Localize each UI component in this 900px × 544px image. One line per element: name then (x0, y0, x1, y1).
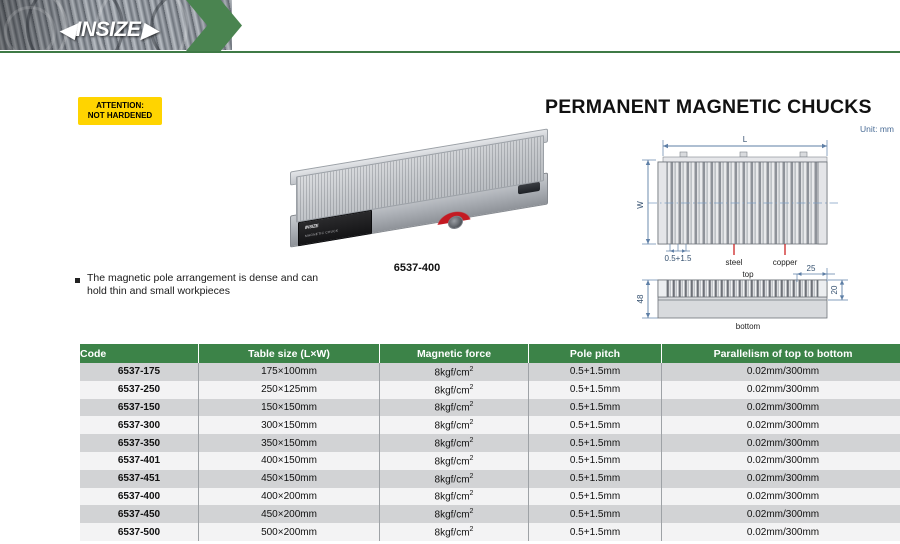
cell-code: 6537-500 (80, 523, 199, 541)
cell-code: 6537-175 (80, 363, 199, 381)
cell-magnetic-force: 8kgf/cm2 (380, 488, 529, 506)
unit-exponent: 2 (470, 526, 474, 533)
cell-pole-pitch: 0.5+1.5mm (529, 363, 662, 381)
cell-parallelism: 0.02mm/300mm (662, 452, 900, 470)
column-header-pole-pitch[interactable]: Pole pitch (529, 344, 662, 363)
cell-code: 6537-400 (80, 488, 199, 506)
table-row[interactable]: 6537-401400×150mm8kgf/cm20.5+1.5mm0.02mm… (80, 452, 900, 470)
table-header-row: Code Table size (L×W) Magnetic force Pol… (80, 344, 900, 363)
feature-item-text: The magnetic pole arrangement is dense a… (87, 272, 337, 298)
cell-pole-pitch: 0.5+1.5mm (529, 488, 662, 506)
unit-exponent: 2 (470, 473, 474, 480)
magnetic-chuck-illustration: INSIZE MAGNETIC CHUCK (290, 128, 548, 269)
table-row[interactable]: 6537-451450×150mm8kgf/cm20.5+1.5mm0.02mm… (80, 470, 900, 488)
logo-wordmark: INSIZE (76, 18, 141, 42)
product-photo: INSIZE MAGNETIC CHUCK (272, 142, 562, 254)
unit-exponent: 2 (470, 455, 474, 462)
cell-magnetic-force: 8kgf/cm2 (380, 434, 529, 452)
header-divider-rule (0, 51, 900, 53)
unit-label: Unit: mm (860, 124, 894, 134)
unit-exponent: 2 (470, 384, 474, 391)
cell-magnetic-force: 8kgf/cm2 (380, 523, 529, 541)
cell-code: 6537-300 (80, 416, 199, 434)
column-header-table-size[interactable]: Table size (L×W) (199, 344, 380, 363)
unit-exponent: 2 (470, 419, 474, 426)
unit-exponent: 2 (470, 401, 474, 408)
logo-left-arrow-icon: ◀ (59, 18, 75, 43)
view-label-bottom: bottom (736, 322, 761, 331)
unit-exponent: 2 (470, 366, 474, 373)
cell-pole-pitch: 0.5+1.5mm (529, 523, 662, 541)
cell-pole-pitch: 0.5+1.5mm (529, 434, 662, 452)
cell-parallelism: 0.02mm/300mm (662, 399, 900, 417)
cell-table-size: 175×100mm (199, 363, 380, 381)
cell-pole-pitch: 0.5+1.5mm (529, 505, 662, 523)
table-row[interactable]: 6537-175175×100mm8kgf/cm20.5+1.5mm0.02mm… (80, 363, 900, 381)
dim-label-20: 20 (830, 285, 839, 294)
cell-table-size: 300×150mm (199, 416, 380, 434)
table-row[interactable]: 6537-300300×150mm8kgf/cm20.5+1.5mm0.02mm… (80, 416, 900, 434)
cell-code: 6537-350 (80, 434, 199, 452)
cell-magnetic-force: 8kgf/cm2 (380, 381, 529, 399)
table-row[interactable]: 6537-400400×200mm8kgf/cm20.5+1.5mm0.02mm… (80, 488, 900, 506)
drawing-svg: L W 0.5+1.5 steel copper top (630, 124, 898, 336)
unit-exponent: 2 (470, 490, 474, 497)
cell-table-size: 250×125mm (199, 381, 380, 399)
unit-exponent: 2 (470, 508, 474, 515)
cell-pole-pitch: 0.5+1.5mm (529, 470, 662, 488)
cell-magnetic-force: 8kgf/cm2 (380, 470, 529, 488)
table-row[interactable]: 6537-500500×200mm8kgf/cm20.5+1.5mm0.02mm… (80, 523, 900, 541)
callout-label-copper: copper (773, 258, 798, 267)
table-row[interactable]: 6537-350350×150mm8kgf/cm20.5+1.5mm0.02mm… (80, 434, 900, 452)
unit-exponent: 2 (470, 437, 474, 444)
specifications-table: Code Table size (L×W) Magnetic force Pol… (80, 344, 900, 541)
callout-label-steel: steel (726, 258, 743, 267)
dim-label-width: W (636, 201, 645, 209)
cell-table-size: 400×150mm (199, 452, 380, 470)
cell-pole-pitch: 0.5+1.5mm (529, 381, 662, 399)
column-header-parallelism[interactable]: Parallelism of top to bottom (662, 344, 900, 363)
table-body: 6537-175175×100mm8kgf/cm20.5+1.5mm0.02mm… (80, 363, 900, 541)
cell-table-size: 350×150mm (199, 434, 380, 452)
cell-pole-pitch: 0.5+1.5mm (529, 452, 662, 470)
dim-label-height-total: 48 (636, 294, 645, 303)
column-header-code[interactable]: Code (80, 344, 199, 363)
view-label-top: top (742, 270, 754, 279)
product-caption: 6537-400 (272, 262, 562, 274)
table-row[interactable]: 6537-450450×200mm8kgf/cm20.5+1.5mm0.02mm… (80, 505, 900, 523)
cell-pole-pitch: 0.5+1.5mm (529, 416, 662, 434)
cell-parallelism: 0.02mm/300mm (662, 416, 900, 434)
table-row[interactable]: 6537-150150×150mm8kgf/cm20.5+1.5mm0.02mm… (80, 399, 900, 417)
cell-parallelism: 0.02mm/300mm (662, 381, 900, 399)
attention-badge: ATTENTION: NOT HARDENED (78, 97, 162, 125)
cell-code: 6537-401 (80, 452, 199, 470)
attention-badge-line1: ATTENTION: (96, 101, 144, 111)
cell-magnetic-force: 8kgf/cm2 (380, 399, 529, 417)
logo-right-arrow-icon: ▶ (141, 18, 157, 43)
cell-parallelism: 0.02mm/300mm (662, 470, 900, 488)
technical-drawing: Unit: mm L W (630, 124, 898, 336)
cell-table-size: 150×150mm (199, 399, 380, 417)
cell-magnetic-force: 8kgf/cm2 (380, 363, 529, 381)
dim-label-pitch: 0.5+1.5 (665, 254, 692, 263)
column-header-magnetic-force[interactable]: Magnetic force (380, 344, 529, 363)
attention-badge-line2: NOT HARDENED (88, 111, 152, 121)
dim-label-25: 25 (807, 264, 816, 273)
cell-parallelism: 0.02mm/300mm (662, 488, 900, 506)
lever-socket-icon (448, 215, 463, 231)
cell-table-size: 450×150mm (199, 470, 380, 488)
cell-code: 6537-451 (80, 470, 199, 488)
cell-parallelism: 0.02mm/300mm (662, 434, 900, 452)
table-row[interactable]: 6537-250250×125mm8kgf/cm20.5+1.5mm0.02mm… (80, 381, 900, 399)
dim-label-length: L (743, 135, 748, 144)
cell-table-size: 450×200mm (199, 505, 380, 523)
cell-table-size: 400×200mm (199, 488, 380, 506)
header-banner: ◀INSIZE▶ (0, 0, 900, 52)
cell-parallelism: 0.02mm/300mm (662, 505, 900, 523)
cell-code: 6537-450 (80, 505, 199, 523)
insize-logo: ◀INSIZE▶ (48, 17, 168, 43)
bullet-square-icon (75, 278, 80, 283)
cell-pole-pitch: 0.5+1.5mm (529, 399, 662, 417)
cell-parallelism: 0.02mm/300mm (662, 523, 900, 541)
cell-code: 6537-150 (80, 399, 199, 417)
cell-parallelism: 0.02mm/300mm (662, 363, 900, 381)
cell-code: 6537-250 (80, 381, 199, 399)
cell-magnetic-force: 8kgf/cm2 (380, 416, 529, 434)
cell-magnetic-force: 8kgf/cm2 (380, 505, 529, 523)
cell-table-size: 500×200mm (199, 523, 380, 541)
cell-magnetic-force: 8kgf/cm2 (380, 452, 529, 470)
page-title: PERMANENT MAGNETIC CHUCKS (545, 96, 895, 120)
